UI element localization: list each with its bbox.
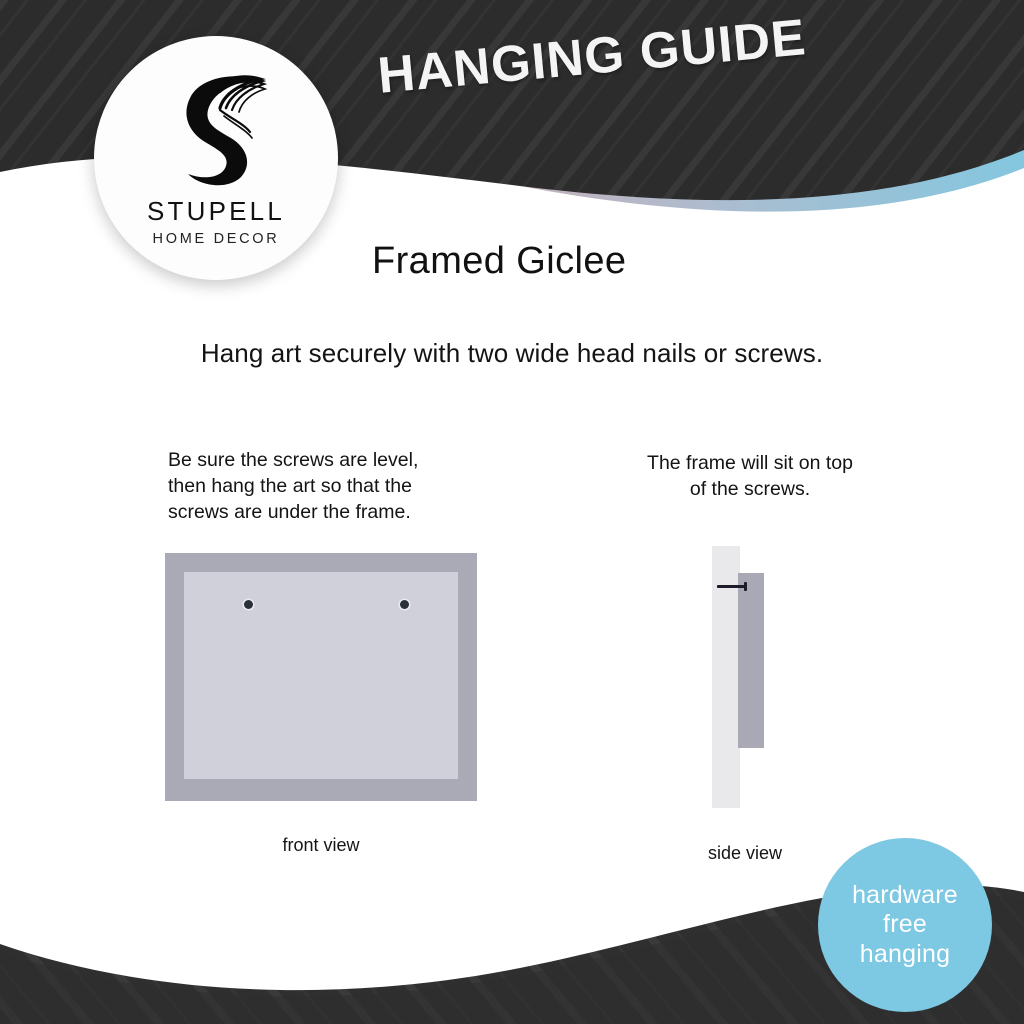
front-view-instruction-line-1: Be sure the screws are level, bbox=[168, 447, 468, 473]
screw-dot-right bbox=[400, 600, 409, 609]
side-view-instruction-line-1: The frame will sit on top bbox=[600, 450, 900, 476]
side-view-instruction: The frame will sit on top of the screws. bbox=[600, 450, 900, 502]
badge-line-1: hardware bbox=[852, 881, 958, 911]
front-view-instruction-line-2: then hang the art so that the bbox=[168, 473, 468, 499]
logo-brand-tagline: HOME DECOR bbox=[153, 231, 280, 247]
badge-line-3: hanging bbox=[860, 940, 950, 970]
side-view-instruction-line-2: of the screws. bbox=[600, 476, 900, 502]
product-name: Framed Giclee bbox=[372, 240, 626, 283]
front-view-instruction: Be sure the screws are level, then hang … bbox=[168, 447, 468, 525]
hardware-free-hanging-badge: hardware free hanging bbox=[818, 838, 992, 1012]
side-view-diagram bbox=[700, 546, 790, 808]
front-view-artwork bbox=[184, 572, 458, 779]
brand-logo-badge: STUPELL HOME DECOR bbox=[94, 36, 338, 280]
side-view-frame bbox=[738, 573, 764, 748]
main-instruction: Hang art securely with two wide head nai… bbox=[0, 338, 1024, 369]
nail-head bbox=[744, 582, 747, 591]
front-view-caption: front view bbox=[161, 835, 481, 856]
nail-shaft bbox=[717, 585, 747, 588]
front-view-instruction-line-3: screws are under the frame. bbox=[168, 499, 468, 525]
screw-dot-left bbox=[244, 600, 253, 609]
stupell-swirl-logo-icon bbox=[160, 70, 272, 188]
front-view-diagram bbox=[165, 553, 477, 801]
badge-line-2: free bbox=[883, 910, 927, 940]
logo-brand-name: STUPELL bbox=[147, 196, 285, 227]
hanging-guide-page: STUPELL HOME DECOR HANGING GUIDE Framed … bbox=[0, 0, 1024, 1024]
side-view-caption: side view bbox=[625, 843, 865, 864]
nail-icon bbox=[717, 582, 749, 591]
page-title: HANGING GUIDE bbox=[375, 0, 898, 105]
